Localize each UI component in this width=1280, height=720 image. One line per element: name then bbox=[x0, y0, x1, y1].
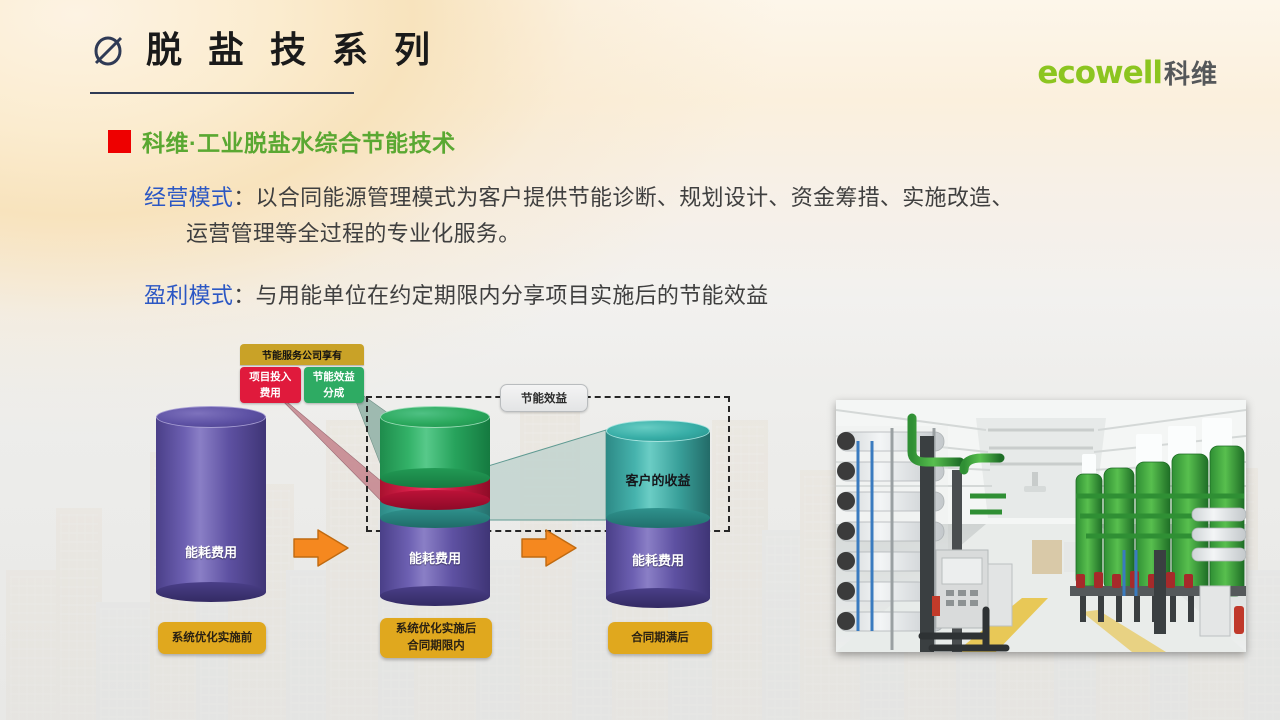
arrow-right-icon-1 bbox=[290, 526, 352, 570]
sponsor-cell-investment-line2: 费用 bbox=[260, 385, 281, 401]
paragraph-key-2: 盈利模式 bbox=[144, 283, 233, 308]
cylinder-during-contract: 能耗费用 bbox=[380, 416, 490, 596]
caption-after-contract: 合同期满后 bbox=[608, 622, 712, 654]
sponsor-legend-title: 节能服务公司享有 bbox=[240, 344, 364, 365]
slide-header: 脱 盐 技 系 列 bbox=[88, 30, 438, 70]
sponsor-legend-box: 节能服务公司享有 项目投入 费用 节能效益 分成 bbox=[240, 344, 364, 403]
logo-wordmark: ecowell bbox=[1037, 58, 1162, 89]
cylinder-after-energy-label: 能耗费用 bbox=[606, 550, 710, 569]
sponsor-cell-investment: 项目投入 费用 bbox=[240, 367, 301, 403]
cylinder-before-label: 能耗费用 bbox=[156, 542, 266, 561]
paragraph-line2-1: 运营管理等全过程的专业化服务。 bbox=[144, 216, 1224, 252]
caption-during-line1: 系统优化实施后 bbox=[396, 621, 477, 638]
title-underline bbox=[90, 92, 354, 94]
arrow-right-icon-2 bbox=[518, 526, 580, 570]
section-heading-text: 科维·工业脱盐水综合节能技术 bbox=[142, 124, 456, 158]
paragraph-profit-model: 盈利模式：与用能单位在约定期限内分享项目实施后的节能效益 bbox=[144, 278, 1224, 314]
sponsor-cell-share: 节能效益 分成 bbox=[304, 367, 365, 403]
caption-before-line1: 系统优化实施前 bbox=[172, 630, 253, 647]
sponsor-legend-cells: 项目投入 费用 节能效益 分成 bbox=[240, 367, 364, 403]
paragraph-line1-1: 以合同能源管理模式为客户提供节能诊断、规划设计、资金筹措、实施改造、 bbox=[256, 185, 1014, 210]
paragraph-sep-2: ： bbox=[233, 283, 255, 308]
section-heading: 科维·工业脱盐水综合节能技术 bbox=[108, 124, 456, 158]
caption-after-line1: 合同期满后 bbox=[631, 630, 689, 647]
caption-during-line2: 合同期限内 bbox=[407, 638, 465, 655]
slide-root: 脱 盐 技 系 列 ecowell 科维 科维·工业脱盐水综合节能技术 经营模式… bbox=[0, 0, 1280, 720]
cylinder-after-contract: 客户的收益 能耗费用 bbox=[606, 430, 710, 598]
sponsor-cell-share-line1: 节能效益 bbox=[313, 369, 355, 385]
logo-chinese-name: 科维 bbox=[1164, 61, 1218, 87]
cylinder-after-benefit-label: 客户的收益 bbox=[606, 470, 710, 489]
energy-saving-diagram: 节能服务公司享有 项目投入 费用 节能效益 分成 节能效益 能耗 bbox=[0, 330, 830, 675]
paragraph-business-model: 经营模式：以合同能源管理模式为客户提供节能诊断、规划设计、资金筹措、实施改造、 … bbox=[144, 180, 1224, 252]
caption-during-contract: 系统优化实施后 合同期限内 bbox=[380, 618, 492, 658]
brand-logo: ecowell 科维 bbox=[1037, 58, 1218, 89]
paragraph-key-1: 经营模式 bbox=[144, 185, 233, 210]
cylinder-before-segment-energy bbox=[156, 416, 266, 592]
plant-photo bbox=[836, 400, 1246, 652]
page-title: 脱 盐 技 系 列 bbox=[146, 32, 438, 68]
plant-photo-illustration bbox=[836, 400, 1246, 652]
sponsor-cell-share-line2: 分成 bbox=[323, 385, 344, 401]
dashed-region-label: 节能效益 bbox=[500, 384, 588, 412]
circle-slash-icon bbox=[88, 30, 128, 70]
paragraph-sep-1: ： bbox=[233, 185, 255, 210]
paragraph-line1-2: 与用能单位在约定期限内分享项目实施后的节能效益 bbox=[256, 283, 769, 308]
cylinder-during-segment-green bbox=[380, 416, 490, 478]
red-square-bullet-icon bbox=[108, 130, 131, 153]
cylinder-during-label: 能耗费用 bbox=[380, 548, 490, 567]
cylinder-before: 能耗费用 bbox=[156, 416, 266, 592]
caption-before: 系统优化实施前 bbox=[158, 622, 266, 654]
sponsor-cell-investment-line1: 项目投入 bbox=[249, 369, 291, 385]
